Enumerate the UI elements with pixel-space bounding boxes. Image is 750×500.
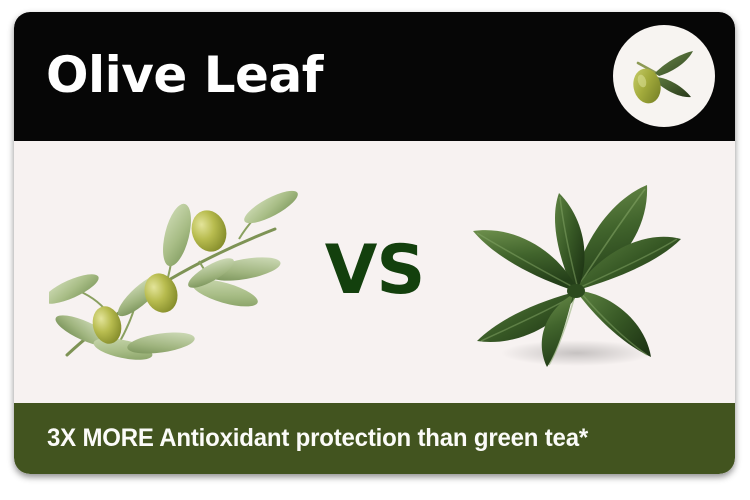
page-title: Olive Leaf [46, 42, 323, 108]
olive-fruit-with-leaves-icon [625, 37, 703, 115]
claim-text: 3X MORE Antioxidant protection than gree… [47, 424, 588, 453]
infographic-stage: Olive Leaf [0, 0, 750, 500]
claim-banner: 3X MORE Antioxidant protection than gree… [14, 403, 735, 474]
olive-badge [613, 25, 715, 127]
green-tea-figure [425, 141, 725, 403]
comparison-card: Olive Leaf [14, 12, 735, 474]
comparison-area: VS [14, 141, 735, 403]
green-tea-leaves-illustration [455, 175, 695, 370]
card-header: Olive Leaf [14, 12, 735, 141]
